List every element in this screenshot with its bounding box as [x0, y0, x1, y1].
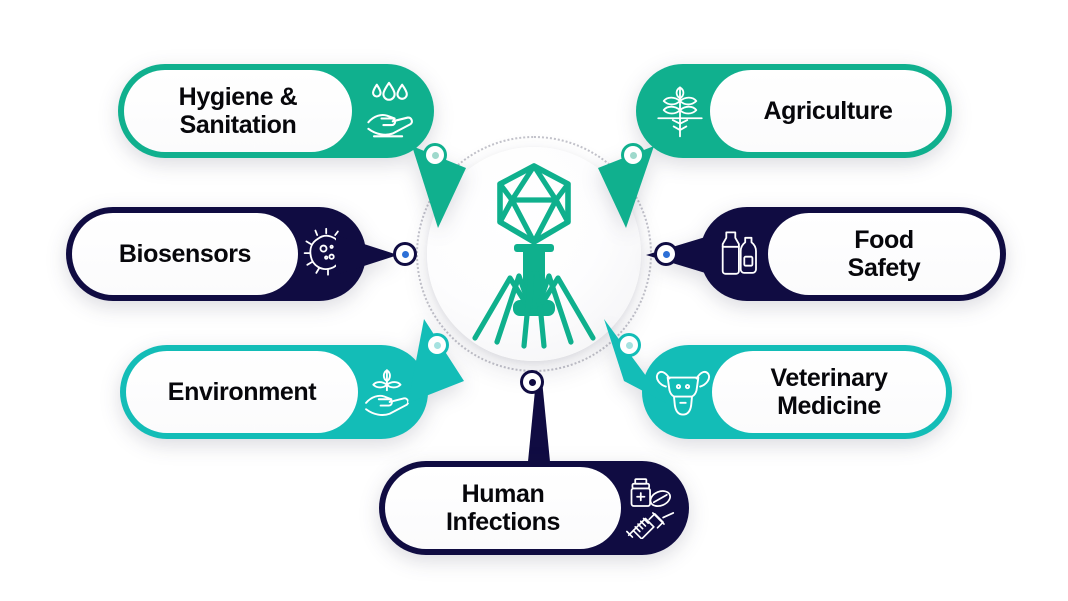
node-label: Hygiene & Sanitation — [179, 83, 298, 140]
node-label: Food Safety — [848, 226, 921, 283]
node-environment[interactable]: Environment — [120, 345, 428, 439]
connector-knob-human-infections — [523, 373, 541, 391]
node-food-safety[interactable]: Food Safety — [700, 207, 1006, 301]
node-biosensors-pointer — [332, 229, 404, 281]
connector-knob-biosensors — [396, 245, 414, 263]
node-environment-labelbox: Environment — [126, 351, 358, 433]
infographic-canvas: Hygiene & Sanitation Agriculture — [0, 0, 1068, 601]
node-agriculture-labelbox: Agriculture — [710, 70, 946, 152]
node-label: Biosensors — [119, 240, 251, 269]
milk-bottles-icon — [710, 225, 766, 283]
node-environment-pointer — [398, 307, 480, 423]
connector-knob-food-safety — [657, 245, 675, 263]
node-agriculture-pointer — [582, 124, 662, 242]
node-hygiene-sanitation-labelbox: Hygiene & Sanitation — [124, 70, 352, 152]
node-veterinary-medicine-pointer — [594, 307, 680, 423]
node-hygiene-sanitation[interactable]: Hygiene & Sanitation — [118, 64, 434, 158]
node-human-infections-labelbox: Human Infections — [385, 467, 621, 549]
node-label: Agriculture — [764, 97, 893, 126]
connector-knob-veterinary-medicine — [620, 336, 638, 354]
connector-knob-agriculture — [624, 146, 642, 164]
node-label: Veterinary Medicine — [771, 364, 888, 421]
node-hygiene-sanitation-pointer — [404, 124, 474, 242]
connector-knob-environment — [428, 336, 446, 354]
connector-knob-hygiene-sanitation — [426, 146, 444, 164]
medicine-bottle-syringe-icon — [619, 468, 683, 548]
node-label: Environment — [168, 378, 316, 407]
node-biosensors-labelbox: Biosensors — [72, 213, 298, 295]
node-human-infections[interactable]: Human Infections — [379, 461, 689, 555]
node-label: Human Infections — [446, 480, 560, 537]
node-food-safety-labelbox: Food Safety — [768, 213, 1000, 295]
node-veterinary-medicine-labelbox: Veterinary Medicine — [712, 351, 946, 433]
node-agriculture[interactable]: Agriculture — [636, 64, 952, 158]
node-veterinary-medicine[interactable]: Veterinary Medicine — [642, 345, 952, 439]
node-food-safety-pointer — [636, 229, 716, 281]
node-biosensors[interactable]: Biosensors — [66, 207, 366, 301]
